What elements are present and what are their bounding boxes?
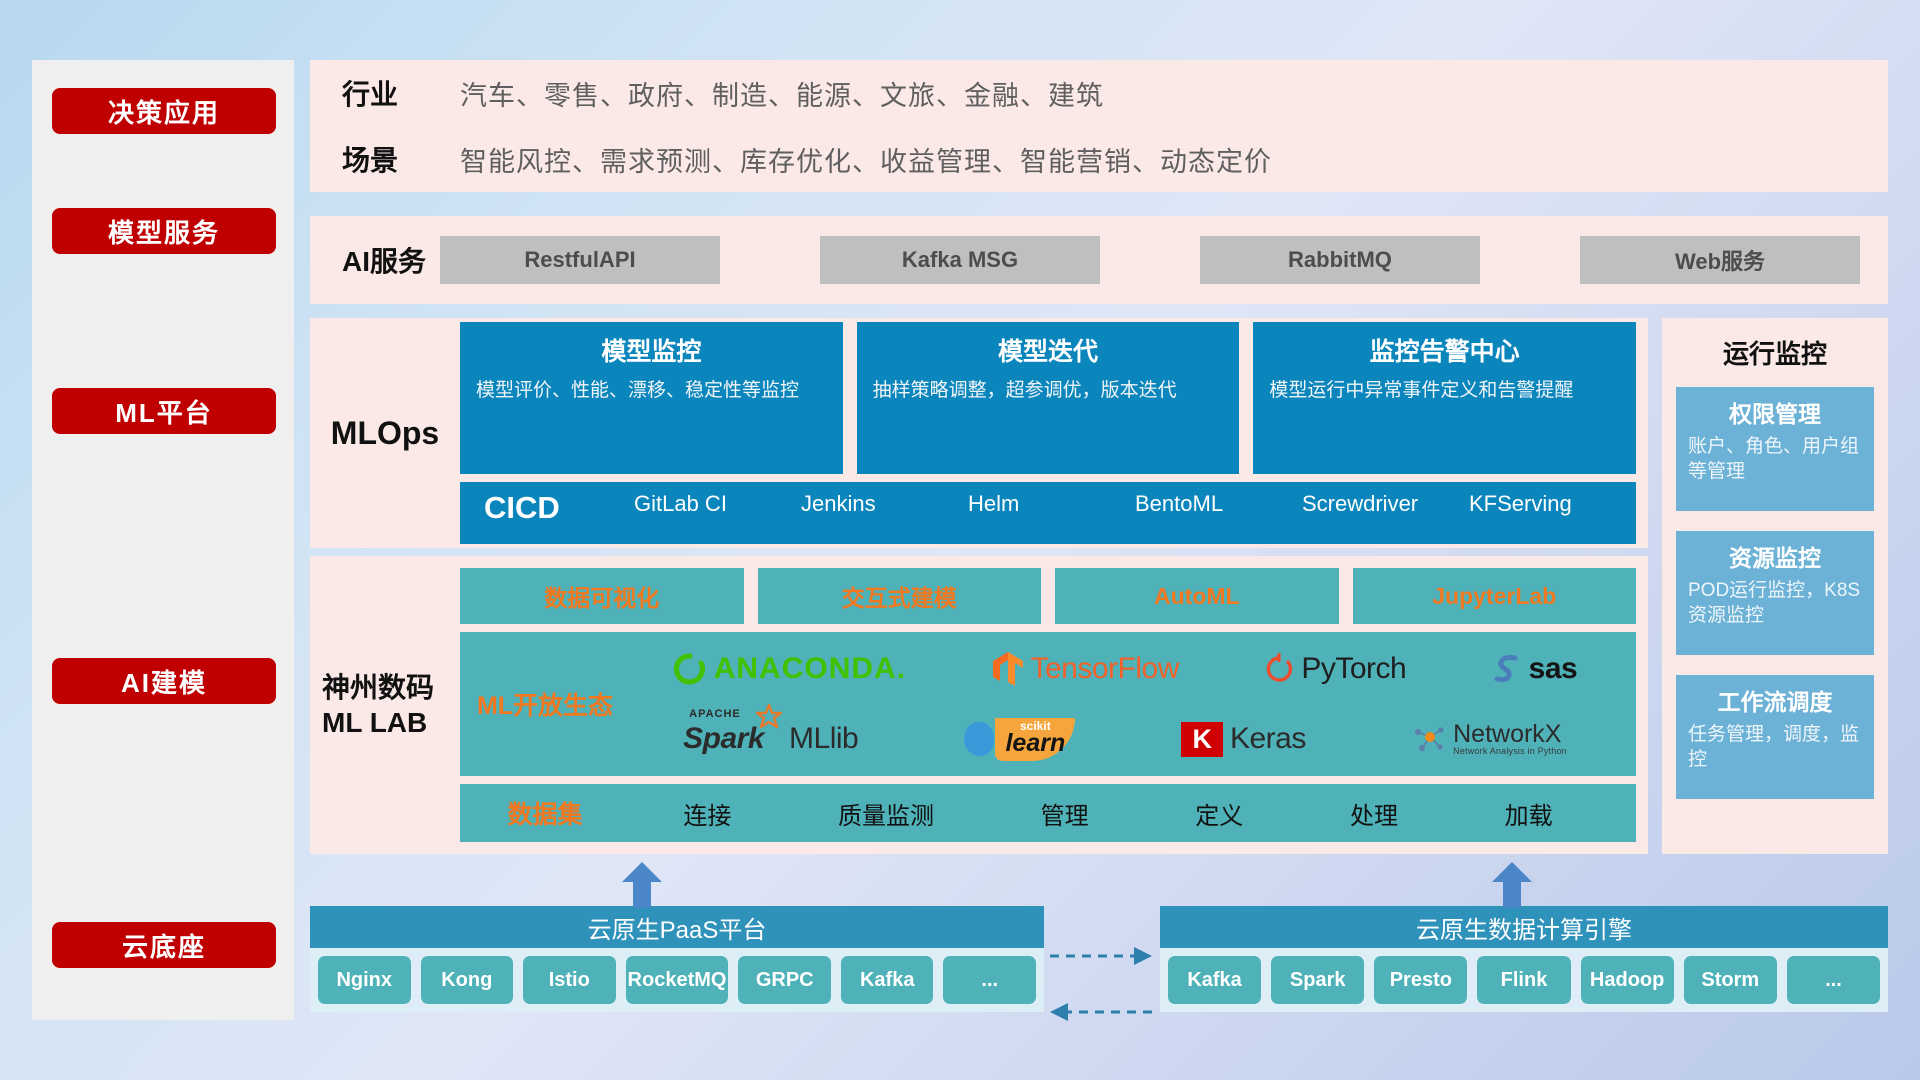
- sklearn-orange-blob-icon: scikit learn: [995, 718, 1075, 761]
- spark-apache-text: APACHE: [689, 708, 741, 720]
- ecosystem-band: ML开放生态 ANACONDA.: [460, 632, 1636, 776]
- mlops-card-alert-center[interactable]: 监控告警中心 模型运行中异常事件定义和告警提醒: [1253, 322, 1636, 474]
- networkx-tagline: Network Analysis in Python: [1453, 747, 1567, 756]
- cloud-paas-header: 云原生PaaS平台: [310, 906, 1044, 948]
- decision-apps-panel: 行业 汽车、零售、政府、制造、能源、文旅、金融、建筑 场景 智能风控、需求预测、…: [310, 60, 1888, 192]
- industry-value: 汽车、零售、政府、制造、能源、文旅、金融、建筑: [460, 74, 1104, 113]
- card-title: 模型监控: [476, 332, 827, 368]
- dataset-item-load[interactable]: 加载: [1505, 796, 1553, 831]
- industry-label: 行业: [310, 73, 460, 113]
- cloud-chip-more[interactable]: ...: [1787, 956, 1880, 1004]
- pytorch-logo-text: PyTorch: [1301, 652, 1406, 686]
- monitor-card-permission[interactable]: 权限管理 账户、角色、用户组等管理: [1676, 387, 1874, 511]
- card-desc: POD运行监控，K8S资源监控: [1688, 579, 1862, 628]
- dataset-item-process[interactable]: 处理: [1350, 796, 1398, 831]
- logo-row-bottom: APACHE Spark MLlib scikit l: [630, 706, 1620, 772]
- dataset-bar: 数据集 连接 质量监测 管理 定义 处理 加载: [460, 784, 1636, 842]
- mlops-content: 模型监控 模型评价、性能、漂移、稳定性等监控 模型迭代 抽样策略调整，超参调优，…: [460, 322, 1648, 544]
- rail-item-ai-modeling[interactable]: AI建模: [52, 658, 276, 704]
- cloud-chip-presto[interactable]: Presto: [1374, 956, 1467, 1004]
- cicd-bar: CICD GitLab CI Jenkins Helm BentoML Scre…: [460, 482, 1636, 544]
- cloud-paas-chip-list: Nginx Kong Istio RocketMQ GRPC Kafka ...: [310, 948, 1044, 1012]
- cicd-item-bentoml[interactable]: BentoML: [1135, 490, 1302, 518]
- tab-interactive-modeling[interactable]: 交互式建模: [758, 568, 1042, 624]
- card-title: 资源监控: [1688, 539, 1862, 573]
- keras-logo-text: Keras: [1230, 722, 1306, 756]
- tensorflow-mark-icon: [992, 651, 1024, 687]
- monitor-title: 运行监控: [1676, 334, 1874, 371]
- sklearn-blue-blob-icon: [964, 722, 994, 756]
- rail-item-ml-platform[interactable]: ML平台: [52, 388, 276, 434]
- service-box-web[interactable]: Web服务: [1580, 236, 1860, 284]
- rail-item-decision-apps[interactable]: 决策应用: [52, 88, 276, 134]
- layer-rail: 决策应用 模型服务 ML平台 AI建模 云底座: [32, 60, 294, 1020]
- ml-lab-label-line2: ML LAB: [322, 705, 460, 740]
- cicd-item-gitlab-ci[interactable]: GitLab CI: [634, 490, 801, 518]
- mlops-card-model-monitoring[interactable]: 模型监控 模型评价、性能、漂移、稳定性等监控: [460, 322, 843, 474]
- rail-item-model-service[interactable]: 模型服务: [52, 208, 276, 254]
- ecosystem-label: ML开放生态: [460, 686, 630, 722]
- cloud-paas-group: 云原生PaaS平台 Nginx Kong Istio RocketMQ GRPC…: [310, 906, 1044, 1012]
- networkx-mark-icon: [1412, 723, 1446, 755]
- mlops-label: MLOps: [310, 415, 460, 452]
- spark-logo-text: Spark: [683, 722, 764, 755]
- cloud-chip-kong[interactable]: Kong: [421, 956, 514, 1004]
- runtime-monitor-panel: 运行监控 权限管理 账户、角色、用户组等管理 资源监控 POD运行监控，K8S资…: [1662, 318, 1888, 854]
- cloud-chip-hadoop[interactable]: Hadoop: [1581, 956, 1674, 1004]
- pytorch-mark-icon: [1264, 652, 1294, 686]
- cloud-compute-chip-list: Kafka Spark Presto Flink Hadoop Storm ..…: [1160, 948, 1888, 1012]
- card-title: 权限管理: [1688, 395, 1862, 429]
- sas-logo-text: sas: [1529, 652, 1578, 686]
- networkx-logo: NetworkX Network Analysis in Python: [1412, 722, 1567, 756]
- card-desc: 模型运行中异常事件定义和告警提醒: [1269, 378, 1620, 404]
- ml-lab-panel: 神州数码 ML LAB 数据可视化 交互式建模 AutoML JupyterLa…: [310, 556, 1648, 854]
- cloud-chip-rocketmq[interactable]: RocketMQ: [626, 956, 729, 1004]
- ai-service-label: AI服务: [310, 240, 440, 280]
- cicd-title: CICD: [484, 490, 634, 526]
- dataset-title: 数据集: [460, 795, 630, 831]
- tab-data-visualization[interactable]: 数据可视化: [460, 568, 744, 624]
- monitor-card-resource[interactable]: 资源监控 POD运行监控，K8S资源监控: [1676, 531, 1874, 655]
- up-arrow-paas-icon: [620, 862, 664, 908]
- mlops-card-model-iteration[interactable]: 模型迭代 抽样策略调整，超参调优，版本迭代: [857, 322, 1240, 474]
- service-box-rabbitmq[interactable]: RabbitMQ: [1200, 236, 1480, 284]
- cicd-item-screwdriver[interactable]: Screwdriver: [1302, 490, 1469, 518]
- anaconda-mark-icon: [673, 652, 707, 686]
- spark-mllib-logo: APACHE Spark MLlib: [683, 722, 858, 756]
- card-title: 监控告警中心: [1269, 332, 1620, 368]
- cloud-chip-nginx[interactable]: Nginx: [318, 956, 411, 1004]
- cloud-compute-group: 云原生数据计算引擎 Kafka Spark Presto Flink Hadoo…: [1160, 906, 1888, 1012]
- rail-item-cloud-base[interactable]: 云底座: [52, 922, 276, 968]
- industry-row: 行业 汽车、零售、政府、制造、能源、文旅、金融、建筑: [310, 60, 1888, 126]
- ai-service-items: RestfulAPI Kafka MSG RabbitMQ Web服务: [440, 236, 1888, 284]
- cloud-chip-flink[interactable]: Flink: [1477, 956, 1570, 1004]
- networkx-logo-text: NetworkX: [1453, 722, 1567, 747]
- card-desc: 任务管理，调度，监控: [1688, 723, 1862, 772]
- cloud-chip-more[interactable]: ...: [943, 956, 1036, 1004]
- cicd-item-jenkins[interactable]: Jenkins: [801, 490, 968, 518]
- dataset-item-define[interactable]: 定义: [1195, 796, 1243, 831]
- service-box-kafka-msg[interactable]: Kafka MSG: [820, 236, 1100, 284]
- ecosystem-logo-grid: ANACONDA. TensorFlow: [630, 636, 1636, 772]
- monitor-card-workflow[interactable]: 工作流调度 任务管理，调度，监控: [1676, 675, 1874, 799]
- cloud-chip-istio[interactable]: Istio: [523, 956, 616, 1004]
- dataset-item-list: 连接 质量监测 管理 定义 处理 加载: [630, 796, 1636, 831]
- spark-star-icon: [756, 704, 782, 730]
- cloud-chip-kafka[interactable]: Kafka: [1168, 956, 1261, 1004]
- logo-row-top: ANACONDA. TensorFlow: [630, 636, 1620, 702]
- anaconda-logo-text: ANACONDA.: [714, 652, 906, 686]
- tab-automl[interactable]: AutoML: [1055, 568, 1339, 624]
- card-desc: 账户、角色、用户组等管理: [1688, 435, 1862, 484]
- cicd-item-list: GitLab CI Jenkins Helm BentoML Screwdriv…: [634, 490, 1636, 518]
- tensorflow-logo-text: TensorFlow: [1031, 652, 1179, 686]
- mllib-logo-text: MLlib: [789, 722, 858, 756]
- scenario-label: 场景: [310, 139, 460, 179]
- anaconda-logo: ANACONDA.: [673, 652, 906, 686]
- pytorch-logo: PyTorch: [1264, 652, 1406, 686]
- mlops-panel: MLOps 模型监控 模型评价、性能、漂移、稳定性等监控 模型迭代 抽样策略调整…: [310, 318, 1648, 548]
- ml-lab-tab-list: 数据可视化 交互式建模 AutoML JupyterLab: [460, 568, 1636, 624]
- mlops-card-list: 模型监控 模型评价、性能、漂移、稳定性等监控 模型迭代 抽样策略调整，超参调优，…: [460, 322, 1636, 474]
- card-desc: 抽样策略调整，超参调优，版本迭代: [873, 378, 1224, 404]
- up-arrow-compute-icon: [1490, 862, 1534, 908]
- tensorflow-logo: TensorFlow: [992, 651, 1179, 687]
- dataset-item-manage[interactable]: 管理: [1041, 796, 1089, 831]
- sas-mark-icon: [1492, 653, 1522, 685]
- keras-logo: K Keras: [1181, 722, 1305, 757]
- scikit-learn-logo: scikit learn: [964, 718, 1075, 761]
- scenario-row: 场景 智能风控、需求预测、库存优化、收益管理、智能营销、动态定价: [310, 126, 1888, 192]
- ml-lab-content: 数据可视化 交互式建模 AutoML JupyterLab ML开放生态 ANA…: [460, 568, 1648, 842]
- tab-jupyterlab[interactable]: JupyterLab: [1353, 568, 1637, 624]
- dataset-item-connect[interactable]: 连接: [683, 796, 731, 831]
- bidirectional-link-arrows: [1046, 940, 1156, 1030]
- learn-text: learn: [1005, 729, 1065, 758]
- card-title: 工作流调度: [1688, 683, 1862, 717]
- cloud-chip-storm[interactable]: Storm: [1684, 956, 1777, 1004]
- sas-logo: sas: [1492, 652, 1578, 686]
- keras-mark-icon: K: [1181, 722, 1223, 757]
- dataset-item-quality-monitor[interactable]: 质量监测: [838, 796, 934, 831]
- cloud-chip-kafka[interactable]: Kafka: [841, 956, 934, 1004]
- cicd-item-helm[interactable]: Helm: [968, 490, 1135, 518]
- service-box-restfulapi[interactable]: RestfulAPI: [440, 236, 720, 284]
- ai-service-panel: AI服务 RestfulAPI Kafka MSG RabbitMQ Web服务: [310, 216, 1888, 304]
- card-desc: 模型评价、性能、漂移、稳定性等监控: [476, 378, 827, 404]
- card-title: 模型迭代: [873, 332, 1224, 368]
- cloud-chip-spark[interactable]: Spark: [1271, 956, 1364, 1004]
- ml-lab-label-line1: 神州数码: [322, 670, 460, 705]
- scenario-value: 智能风控、需求预测、库存优化、收益管理、智能营销、动态定价: [460, 140, 1272, 179]
- cloud-chip-grpc[interactable]: GRPC: [738, 956, 831, 1004]
- cicd-item-kfserving[interactable]: KFServing: [1469, 490, 1636, 518]
- cloud-compute-header: 云原生数据计算引擎: [1160, 906, 1888, 948]
- ml-lab-label: 神州数码 ML LAB: [310, 670, 460, 740]
